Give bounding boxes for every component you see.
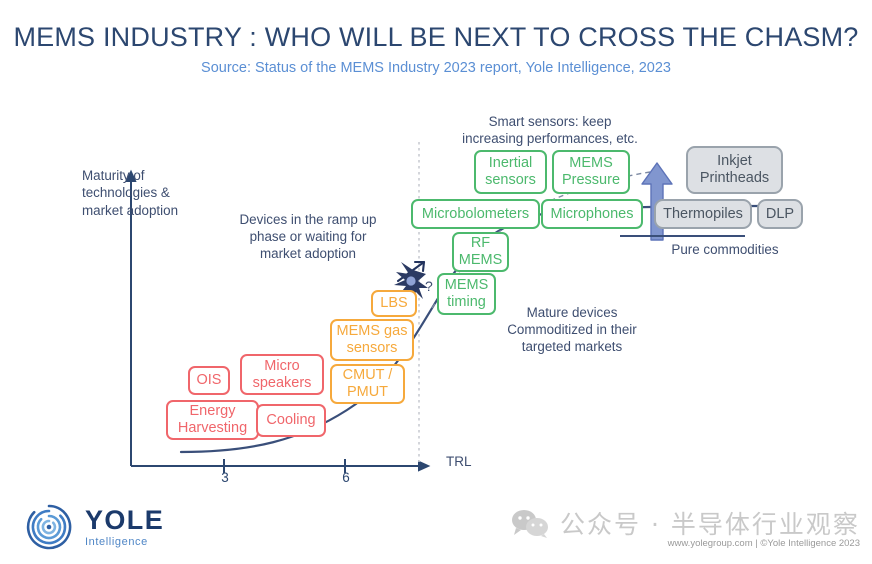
device-box-microbolometers[interactable]: Microbolometers [411, 199, 540, 229]
annotation-ramp-up: Devices in the ramp up phase or waiting … [218, 211, 398, 262]
device-box-dlp[interactable]: DLP [757, 199, 803, 229]
chart-graphics [0, 0, 872, 564]
device-box-energy-harvesting[interactable]: Energy Harvesting [166, 400, 259, 440]
device-box-mems-timing[interactable]: MEMS timing [437, 273, 496, 315]
x-tick-label-6: 6 [334, 470, 358, 485]
wechat-icon [510, 508, 550, 538]
device-box-mems-gas-sensors[interactable]: MEMS gas sensors [330, 319, 414, 361]
device-box-lbs[interactable]: LBS [371, 290, 417, 317]
device-box-cmut-pmut[interactable]: CMUT / PMUT [330, 364, 405, 404]
x-axis-name: TRL [446, 454, 472, 469]
y-axis-label: Maturity of technologies & market adopti… [82, 167, 178, 219]
device-box-inkjet-printheads[interactable]: Inkjet Printheads [686, 146, 783, 194]
yole-spiral-icon [22, 500, 76, 554]
page-title: MEMS INDUSTRY : WHO WILL BE NEXT TO CROS… [0, 22, 872, 53]
question-mark-label: ? [425, 278, 433, 294]
device-box-mems-pressure[interactable]: MEMS Pressure [552, 150, 630, 194]
device-box-cooling[interactable]: Cooling [256, 404, 326, 437]
annotation-mature-devices: Mature devices Commoditized in their tar… [492, 304, 652, 355]
annotation-pure-commodities: Pure commodities [660, 241, 790, 258]
page-subtitle: Source: Status of the MEMS Industry 2023… [0, 60, 872, 76]
annotation-smart-sensors: Smart sensors: keep increasing performan… [445, 113, 655, 147]
watermark-text: 公众号 · 半导体行业观察 [560, 505, 860, 541]
logo-tagline: Intelligence [85, 537, 164, 548]
slide-canvas: MEMS INDUSTRY : WHO WILL BE NEXT TO CROS… [0, 0, 872, 564]
yole-logo: YOLE Intelligence [22, 500, 164, 554]
x-tick-label-3: 3 [213, 470, 237, 485]
device-box-microphones[interactable]: Microphones [541, 199, 643, 229]
device-box-thermopiles[interactable]: Thermopiles [654, 199, 752, 229]
device-box-rf-mems[interactable]: RF MEMS [452, 232, 509, 272]
footer-credit: www.yolegroup.com | ©Yole Intelligence 2… [668, 538, 860, 549]
wechat-watermark: 公众号 · 半导体行业观察 [510, 505, 860, 541]
device-box-micro-speakers[interactable]: Micro speakers [240, 354, 324, 395]
logo-wordmark: YOLE [85, 507, 164, 534]
device-box-ois[interactable]: OIS [188, 366, 230, 395]
device-box-inertial-sensors[interactable]: Inertial sensors [474, 150, 547, 194]
